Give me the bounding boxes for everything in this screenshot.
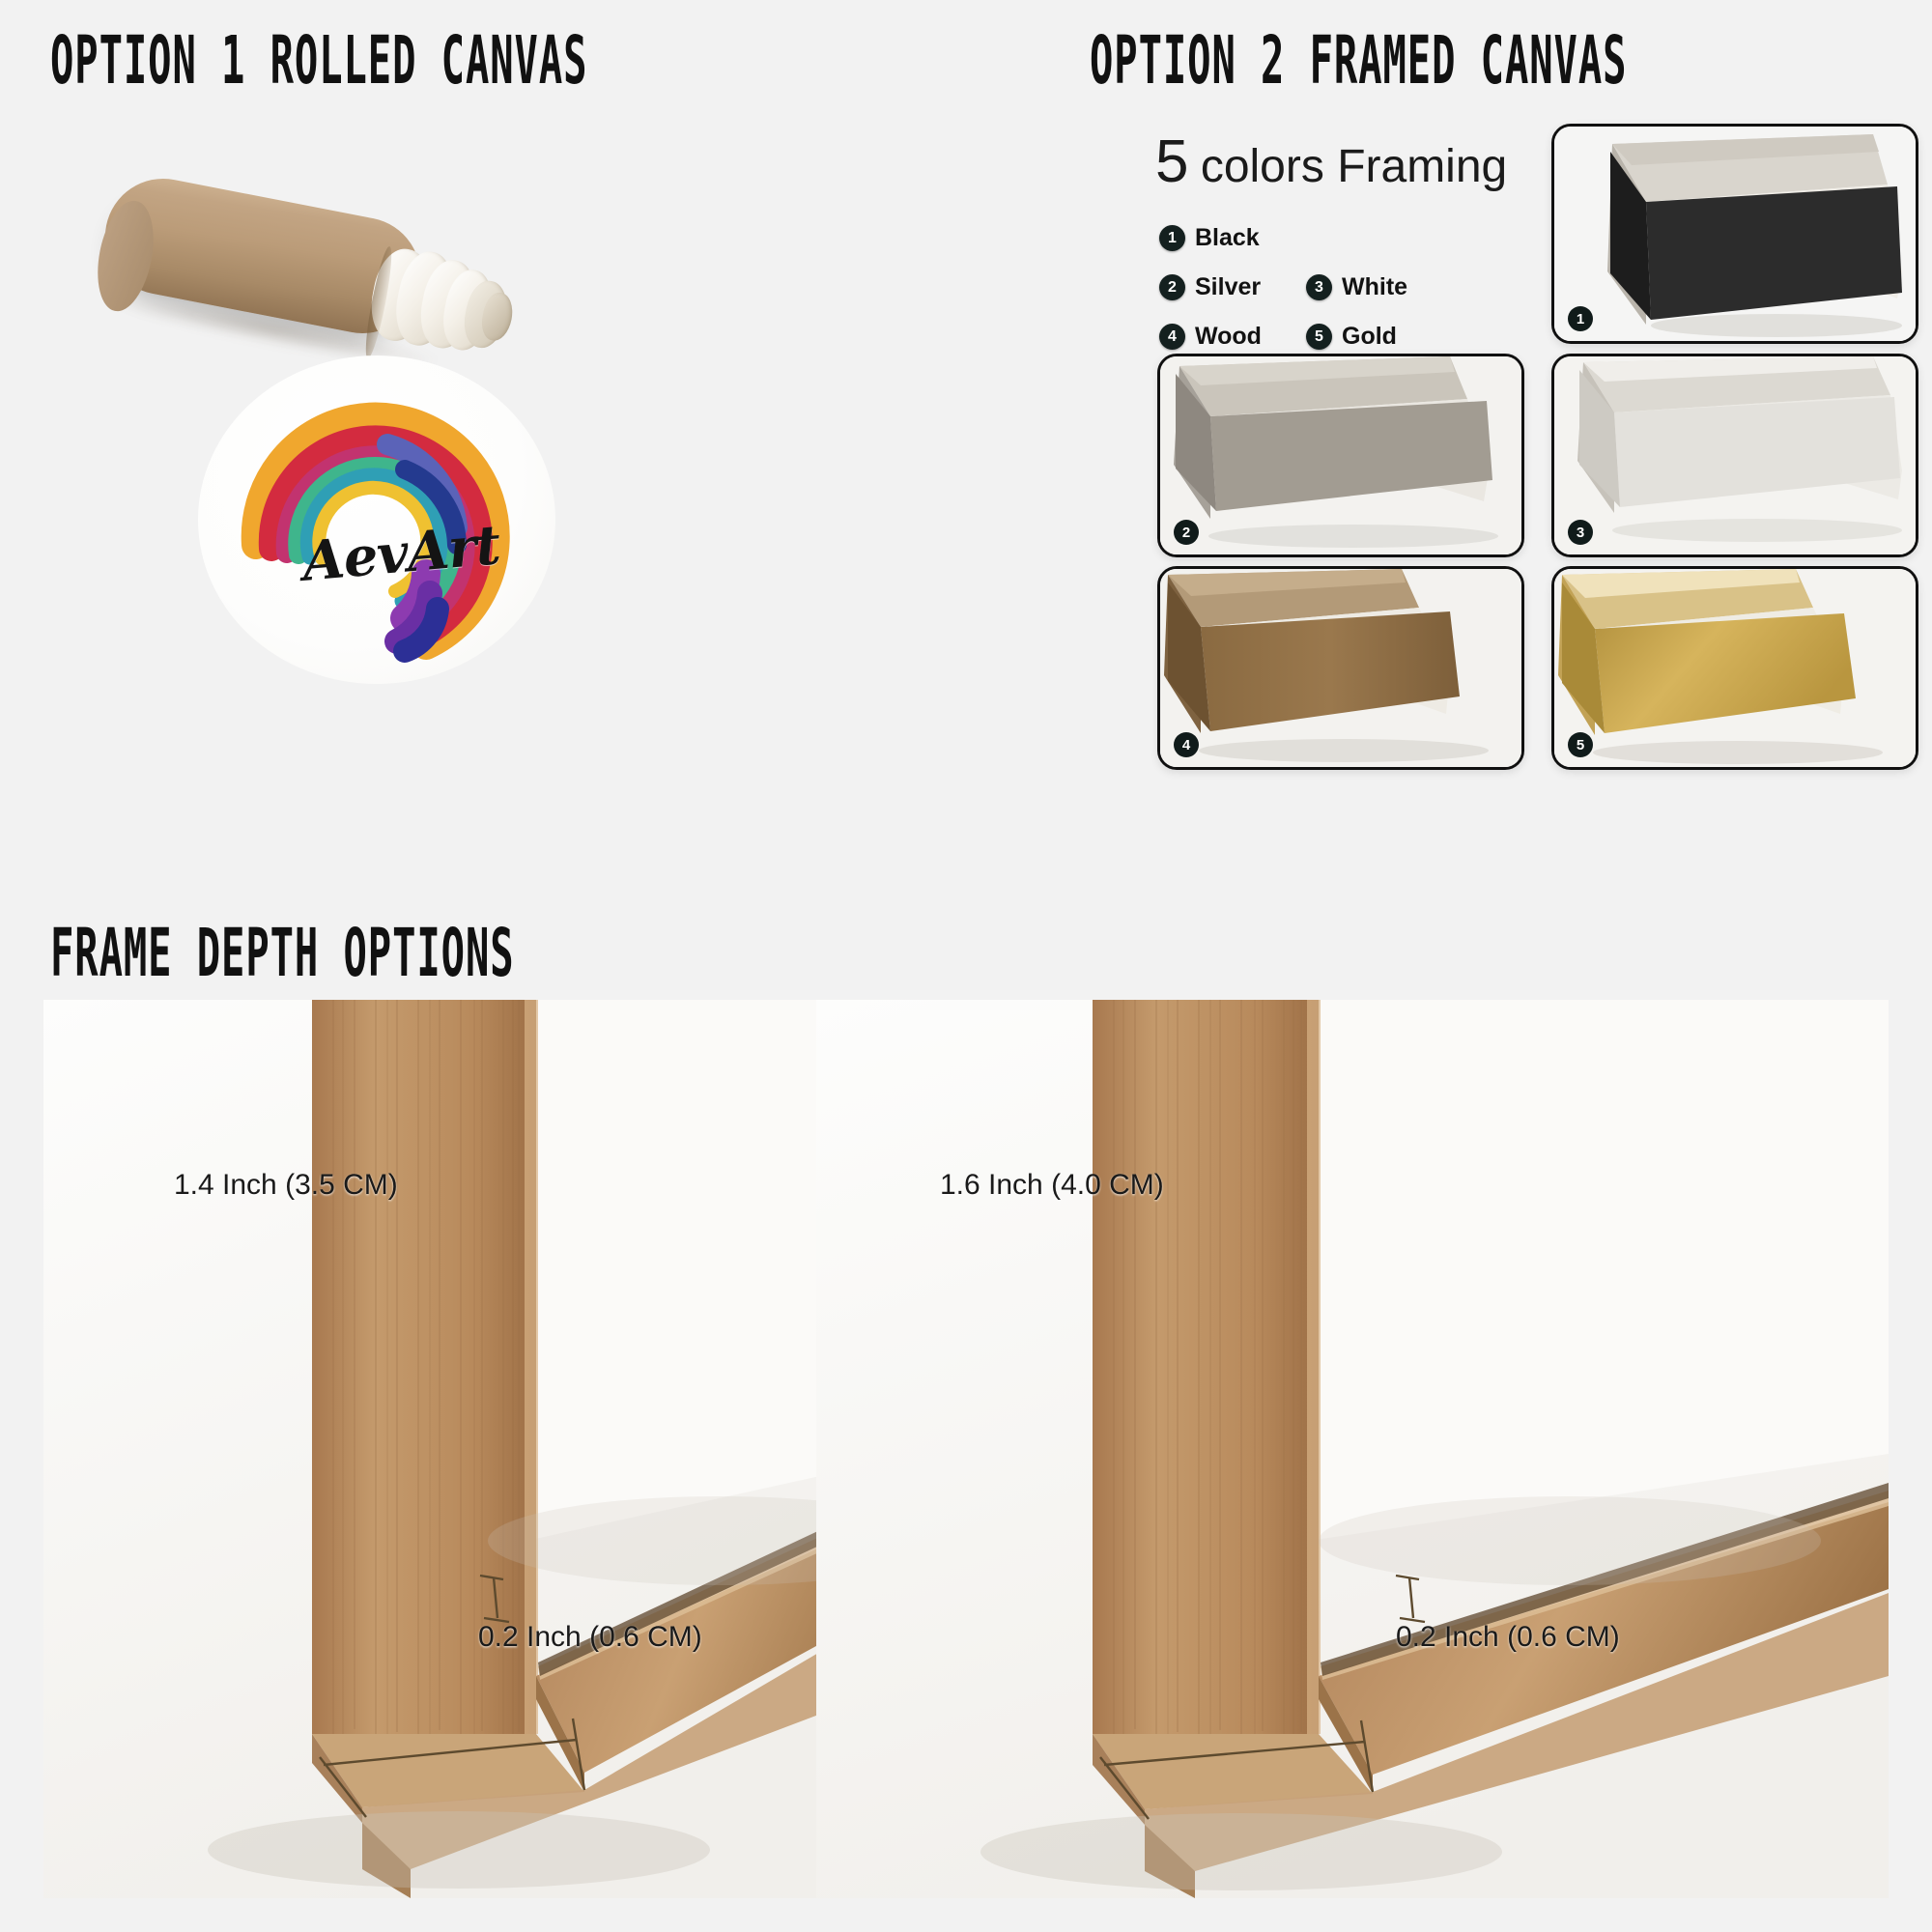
legend-row: 1 Black [1159, 224, 1478, 252]
frame-depth-panel-right: 1.6 Inch (4.0 CM) 0.2 Inch (0.6 CM) [816, 1000, 1889, 1898]
frame-photo-wood [1160, 569, 1521, 767]
frame-sample-white[interactable]: 3 [1551, 354, 1918, 557]
badge-number-1: 1 [1159, 225, 1185, 251]
thickness-dimension-label-right: 0.2 Inch (0.6 CM) [1396, 1621, 1620, 1654]
frame-badge-3: 3 [1568, 520, 1593, 545]
frame-depth-panel-left: 1.4 Inch (3.5 CM) 0.2 Inch (0.6 CM) [43, 1000, 921, 1898]
frame-photo-white [1554, 356, 1916, 554]
rolled-canvas-tube-icon [82, 145, 536, 367]
badge-number-4: 4 [1159, 324, 1185, 350]
option1-heading: OPTION 1 ROLLED CANVAS [50, 23, 587, 99]
depth-dimension-label-right: 1.6 Inch (4.0 CM) [940, 1169, 1164, 1202]
legend-row: 2 Silver 3 White [1159, 273, 1478, 301]
frame-badge-5: 5 [1568, 732, 1593, 757]
badge-number-2: 2 [1159, 274, 1185, 300]
frame-photo-gold [1554, 569, 1916, 767]
framing-title: 5 colors Framing [1155, 128, 1507, 196]
rainbow-paint-swirl-icon [198, 355, 555, 684]
legend-item-black[interactable]: 1 Black [1159, 224, 1306, 252]
frame-badge-1: 1 [1568, 306, 1593, 331]
frame-sample-wood[interactable]: 4 [1157, 566, 1524, 770]
legend-item-silver[interactable]: 2 Silver [1159, 273, 1306, 301]
legend-label-gold: Gold [1342, 323, 1397, 351]
badge-number-3: 3 [1306, 274, 1332, 300]
framing-color-count: 5 [1155, 128, 1187, 195]
frame-depth-photo-left [43, 1000, 921, 1898]
frame-sample-gold[interactable]: 5 [1551, 566, 1918, 770]
framing-color-legend: 1 Black 2 Silver 3 White 4 Wood [1159, 224, 1478, 372]
thickness-dimension-label-left: 0.2 Inch (0.6 CM) [478, 1621, 702, 1654]
frame-photo-silver [1160, 356, 1521, 554]
legend-item-white[interactable]: 3 White [1306, 273, 1453, 301]
frame-depth-photo-right [816, 1000, 1889, 1898]
legend-label-white: White [1342, 273, 1407, 301]
infographic-stage: OPTION 1 ROLLED CANVAS OPTION 2 FRAMED C… [0, 0, 1932, 1932]
frame-badge-4: 4 [1174, 732, 1199, 757]
legend-label-silver: Silver [1195, 273, 1261, 301]
frame-badge-2: 2 [1174, 520, 1199, 545]
legend-label-black: Black [1195, 224, 1260, 252]
frame-photo-black [1554, 127, 1916, 341]
framing-title-text: colors Framing [1187, 141, 1507, 192]
depth-dimension-label-left: 1.4 Inch (3.5 CM) [174, 1169, 398, 1202]
frame-sample-black[interactable]: 1 [1551, 124, 1918, 344]
legend-item-gold[interactable]: 5 Gold [1306, 323, 1453, 351]
frame-sample-silver[interactable]: 2 [1157, 354, 1524, 557]
legend-row: 4 Wood 5 Gold [1159, 323, 1478, 351]
framing-options-panel: 5 colors Framing 1 Black 2 Silver 3 Whit… [1150, 124, 1913, 696]
option2-heading: OPTION 2 FRAMED CANVAS [1090, 23, 1627, 99]
legend-label-wood: Wood [1195, 323, 1262, 351]
frame-depth-heading: FRAME DEPTH OPTIONS [50, 916, 515, 992]
legend-item-wood[interactable]: 4 Wood [1159, 323, 1306, 351]
badge-number-5: 5 [1306, 324, 1332, 350]
brand-logo: AevArt [198, 355, 555, 684]
